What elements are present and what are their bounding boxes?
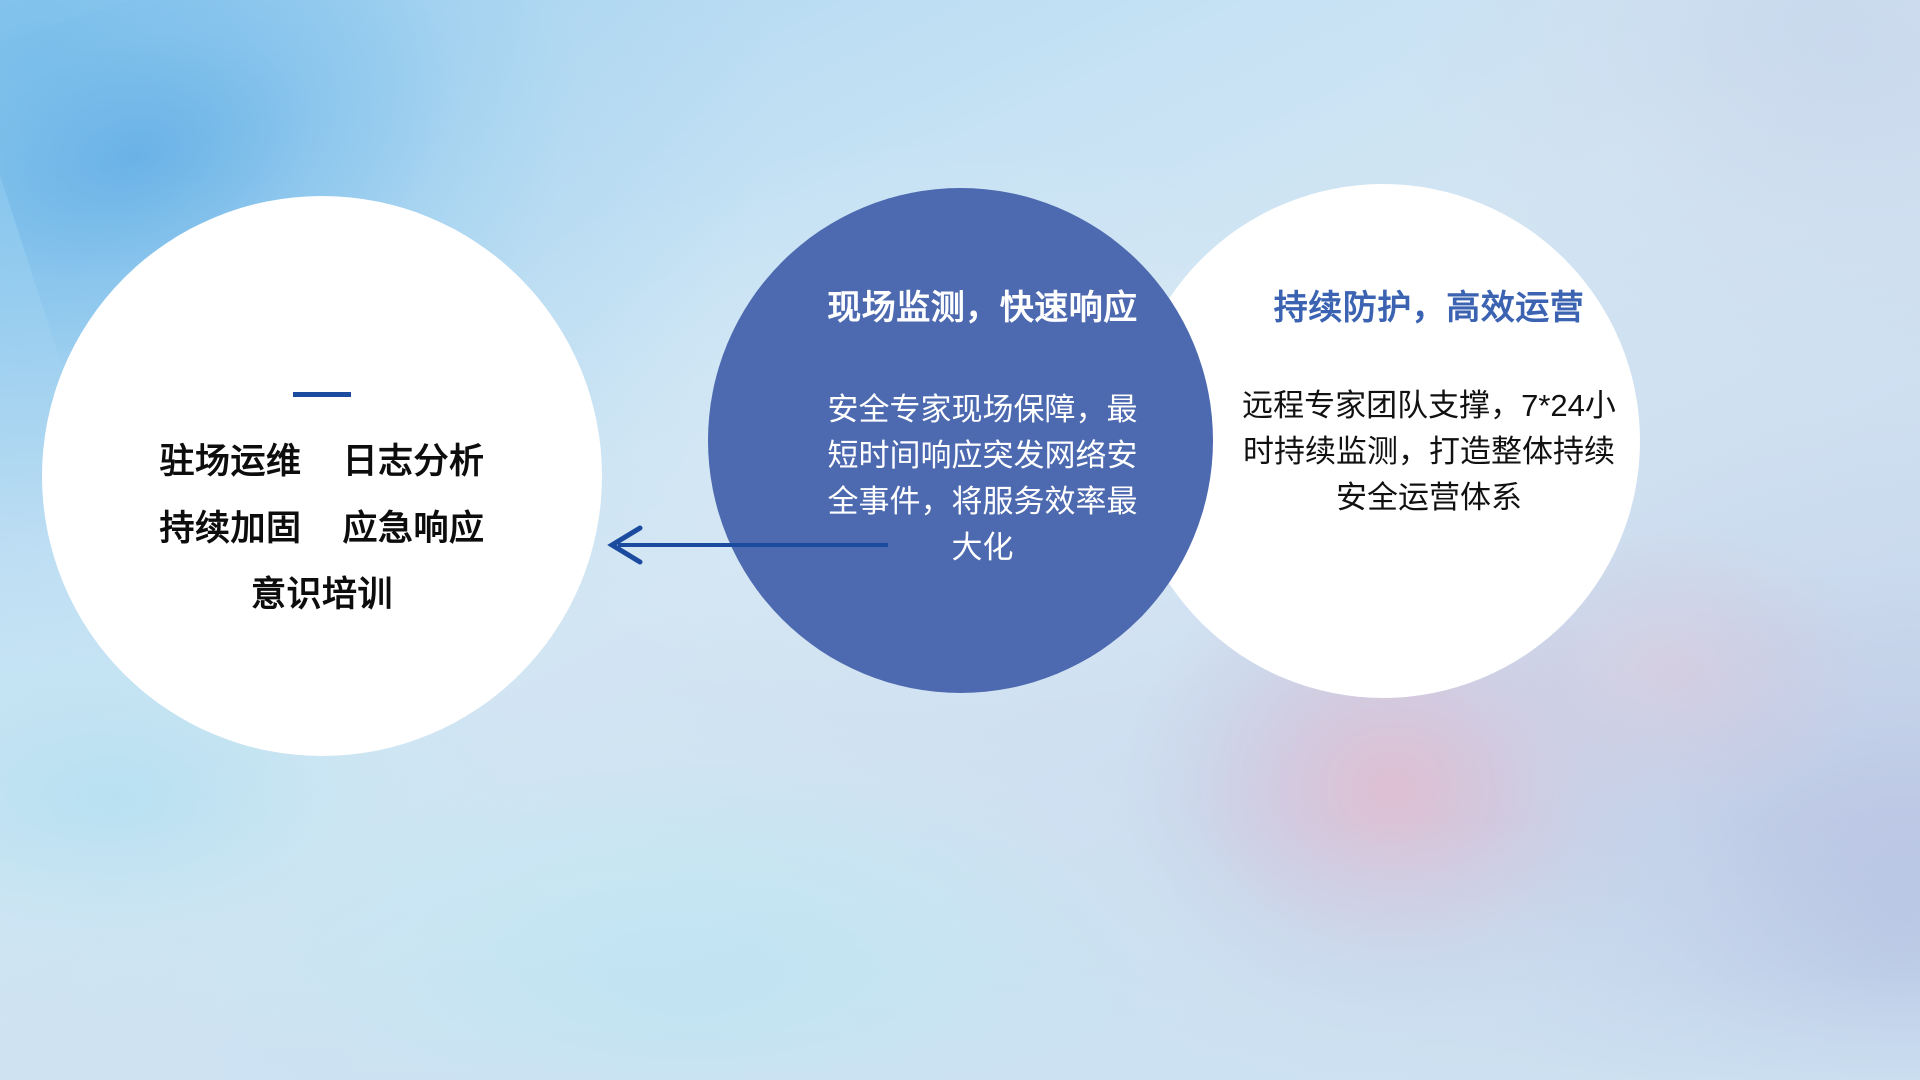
slide-canvas: 驻场运维 日志分析 持续加固 应急响应 意识培训 现场监测，快速响应 安全专家现… xyxy=(0,0,1920,1080)
accent-dash-divider xyxy=(293,392,351,397)
capability-line-3: 意识培训 xyxy=(251,576,393,615)
continuous-protection-body: 远程专家团队支撑，7*24小时持续监测，打造整体持续安全运营体系 xyxy=(1229,383,1629,521)
capability-line-2: 持续加固 应急响应 xyxy=(160,510,485,549)
onsite-monitoring-title: 现场监测，快速响应 xyxy=(827,280,1138,329)
onsite-monitoring-circle: 现场监测，快速响应 安全专家现场保障，最短时间响应突发网络安全事件，将服务效率最… xyxy=(708,188,1213,693)
capability-keyword-list: 驻场运维 日志分析 持续加固 应急响应 意识培训 xyxy=(160,443,485,615)
capability-circle: 驻场运维 日志分析 持续加固 应急响应 意识培训 xyxy=(42,196,602,756)
capability-line-1: 驻场运维 日志分析 xyxy=(160,443,485,482)
leftward-arrow-icon xyxy=(600,520,890,570)
continuous-protection-title: 持续防护，高效运营 xyxy=(1274,280,1585,329)
